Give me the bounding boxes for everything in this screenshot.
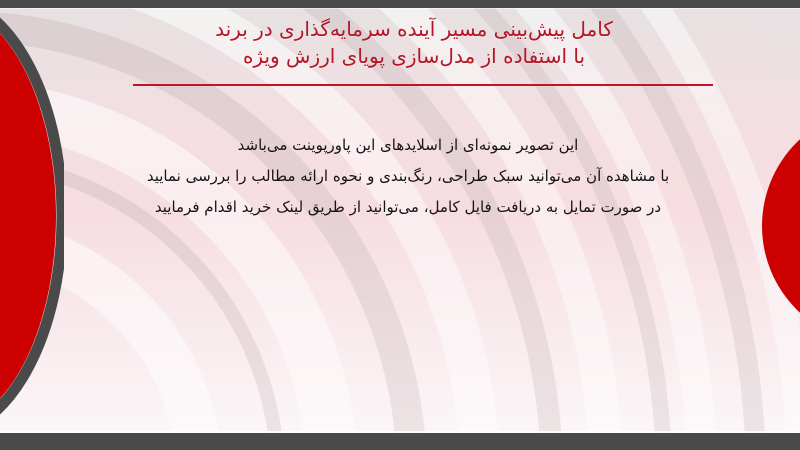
slide-background: کامل پیش‌بینی مسیر آینده سرمایه‌گذاری در… <box>0 8 800 433</box>
body-line-1: این تصویر نمونه‌ای از اسلایدهای این پاور… <box>88 130 728 161</box>
slide-title: کامل پیش‌بینی مسیر آینده سرمایه‌گذاری در… <box>114 16 714 70</box>
body-line-3: در صورت تمایل به دریافت فایل کامل، می‌تو… <box>88 192 728 223</box>
frame-top-bar <box>0 0 800 8</box>
slide-body-text: این تصویر نمونه‌ای از اسلایدهای این پاور… <box>88 130 728 223</box>
page-top-hairline <box>0 8 800 9</box>
slide-canvas: کامل پیش‌بینی مسیر آینده سرمایه‌گذاری در… <box>0 0 800 450</box>
slide-title-line-1: کامل پیش‌بینی مسیر آینده سرمایه‌گذاری در… <box>114 16 714 43</box>
slide-title-line-2: با استفاده از مدل‌سازی پویای ارزش ویژه <box>114 43 714 70</box>
frame-bottom-bar <box>0 433 800 450</box>
title-underline-rule <box>133 84 713 86</box>
body-line-2: با مشاهده آن می‌توانید سبک طراحی، رنگ‌بن… <box>88 161 728 192</box>
